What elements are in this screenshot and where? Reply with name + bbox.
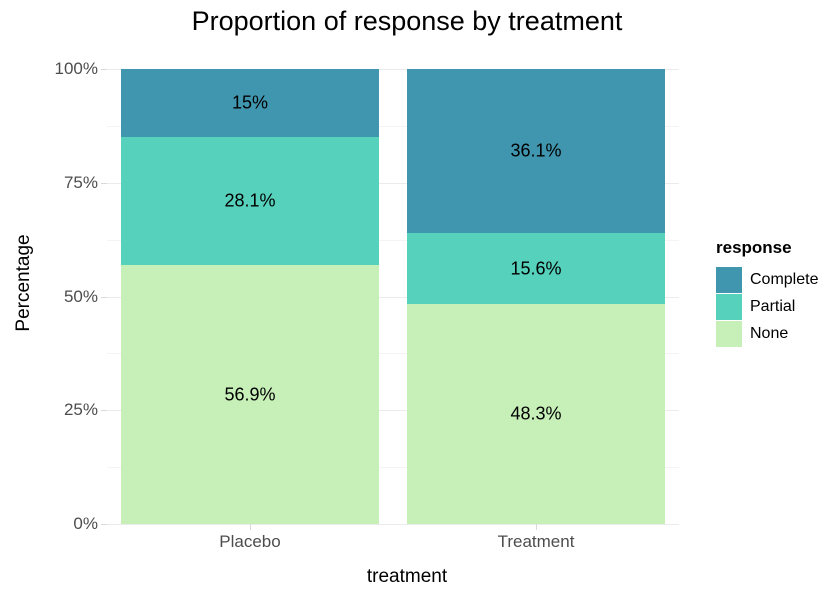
bar-segment-label: 48.3% [407, 404, 664, 425]
bar-segment-label: 28.1% [121, 191, 378, 212]
y-tick-label: 25% [38, 400, 98, 420]
legend-items: CompletePartialNone [716, 267, 818, 347]
legend-item-complete[interactable]: Complete [716, 267, 818, 293]
y-tick-mark [101, 69, 107, 70]
y-tick-label: 50% [38, 287, 98, 307]
y-axis-title: Percentage [13, 183, 35, 383]
y-tick-label: 0% [38, 514, 98, 534]
bar-segment-label: 36.1% [407, 141, 664, 162]
bar-segment-label: 56.9% [121, 384, 378, 405]
legend-item-none[interactable]: None [716, 321, 818, 347]
x-axis-title: treatment [107, 566, 707, 588]
legend-swatch-partial [716, 294, 742, 320]
y-tick-mark [101, 410, 107, 411]
y-tick-mark [101, 183, 107, 184]
bar-treatment[interactable]: 48.3%15.6%36.1% [407, 69, 664, 524]
legend-swatch-none [716, 321, 742, 347]
plot-area: 56.9%28.1%15%48.3%15.6%36.1% [107, 69, 679, 524]
chart-title: Proportion of response by treatment [107, 6, 707, 37]
x-tick-mark [250, 524, 251, 530]
legend: response CompletePartialNone [716, 238, 818, 348]
legend-label: None [750, 325, 788, 343]
y-tick-mark [101, 524, 107, 525]
legend-swatch-complete [716, 267, 742, 293]
legend-label: Complete [750, 271, 818, 289]
chart-root: Proportion of response by treatment Perc… [0, 0, 840, 600]
y-tick-label: 100% [38, 59, 98, 79]
x-tick-label-treatment: Treatment [498, 532, 575, 552]
y-tick-mark [101, 297, 107, 298]
gridline-major [107, 524, 679, 525]
bar-segment-label: 15% [121, 93, 378, 114]
legend-title: response [716, 238, 818, 258]
bar-segment-label: 15.6% [407, 258, 664, 279]
x-tick-label-placebo: Placebo [219, 532, 280, 552]
bar-placebo[interactable]: 56.9%28.1%15% [121, 69, 378, 524]
x-tick-mark [536, 524, 537, 530]
legend-label: Partial [750, 298, 795, 316]
y-tick-label: 75% [38, 173, 98, 193]
legend-item-partial[interactable]: Partial [716, 294, 818, 320]
